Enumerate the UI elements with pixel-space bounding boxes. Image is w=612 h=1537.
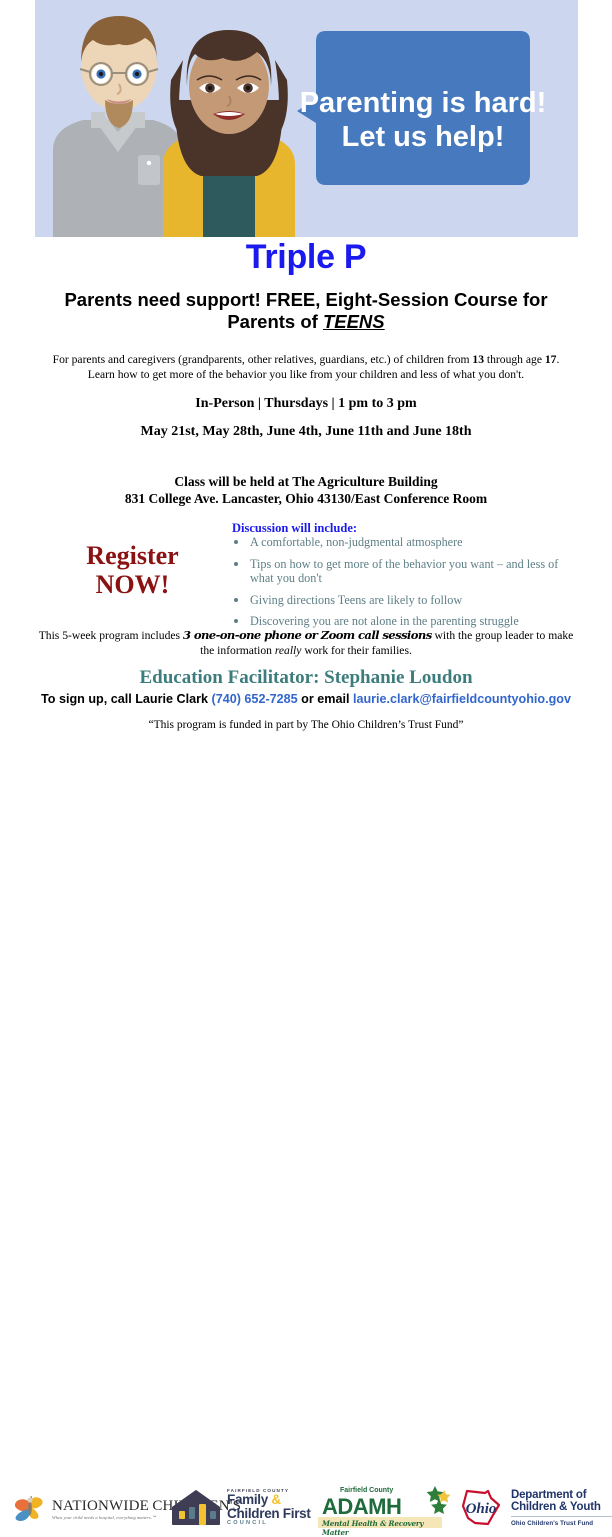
ohio-wordmark: Ohio	[466, 1501, 497, 1517]
list-item: Tips on how to get more of the behavior …	[232, 557, 580, 586]
page-title: Triple P	[0, 238, 612, 277]
list-item: A comfortable, non-judgmental atmosphere	[232, 535, 580, 550]
program-note-part-3: work for their families.	[301, 644, 411, 657]
speech-bubble: Parenting is hard! Let us help!	[297, 31, 546, 185]
logo-ohio-dcy: Ohio Department of Children & Youth Ohio…	[455, 1488, 612, 1528]
register-line-2: NOW!	[96, 570, 170, 599]
hero-illustration: Parenting is hard! Let us help!	[35, 0, 578, 237]
phone-link[interactable]: (740) 652-7285	[212, 692, 298, 706]
logo-adamh: Fairfield County ADAMH Mental Health & R…	[318, 1487, 448, 1531]
list-item-label: A comfortable, non-judgmental atmosphere	[250, 535, 463, 549]
register-line-1: Register	[86, 541, 178, 570]
bubble-line-2: Let us help!	[342, 121, 505, 153]
subtitle: Parents need support! FREE, Eight-Sessio…	[36, 289, 576, 333]
adamh-county: Fairfield County	[340, 1487, 393, 1494]
schedule-format: In-Person | Thursdays | 1 pm to 3 pm	[0, 396, 612, 412]
funding-note: “This program is funded in part by The O…	[0, 719, 612, 731]
register-callout: Register NOW!	[40, 541, 225, 599]
ohio-dept-line-2: Children & Youth	[511, 1501, 612, 1513]
ohio-dept-line-1: Department of	[511, 1489, 612, 1501]
adamh-tagline: Mental Health & Recovery Matter	[318, 1517, 442, 1537]
signup-prefix: To sign up, call Laurie Clark	[41, 692, 212, 706]
house-icon	[170, 1487, 222, 1527]
fcfc-line-1: Family &	[227, 1493, 311, 1507]
blurb-part-2: through age	[484, 353, 545, 366]
ohio-outline-icon: Ohio	[455, 1488, 507, 1528]
adamh-wordmark: ADAMH	[322, 1496, 401, 1517]
signup-middle: or email	[298, 692, 353, 706]
list-item: Discovering you are not alone in the par…	[232, 614, 580, 629]
list-item-label: Tips on how to get more of the behavior …	[250, 557, 558, 586]
list-item-label: Giving directions Teens are likely to fo…	[250, 593, 462, 607]
adamh-tagline-band: Mental Health & Recovery Matter	[318, 1517, 442, 1528]
program-note-part-1: This 5-week program includes	[39, 629, 183, 642]
signup-line: To sign up, call Laurie Clark (740) 652-…	[0, 692, 612, 706]
location-line-2: 831 College Ave. Lancaster, Ohio 43130/E…	[125, 491, 487, 506]
stars-icon	[404, 1485, 450, 1515]
program-note: This 5-week program includes 3 one-on-on…	[38, 628, 574, 658]
discussion-list: A comfortable, non-judgmental atmosphere…	[232, 535, 580, 636]
bubble-line-1: Parenting is hard!	[300, 87, 547, 119]
program-note-italic: really	[275, 644, 302, 657]
bullet-icon	[234, 562, 238, 566]
bullet-icon	[234, 619, 238, 623]
list-item-label: Discovering you are not alone in the par…	[250, 614, 519, 628]
fcfc-line-2: Children First	[227, 1507, 311, 1521]
bullet-icon	[234, 540, 238, 544]
program-note-emphasis: 3 one-on-one phone or Zoom call sessions	[183, 628, 432, 642]
location-line-1: Class will be held at The Agriculture Bu…	[174, 474, 437, 489]
hero-svg: Parenting is hard! Let us help!	[35, 0, 578, 237]
facilitator-line: Education Facilitator: Stephanie Loudon	[0, 667, 612, 689]
ohio-trust-fund: Ohio Children's Trust Fund	[511, 1520, 612, 1527]
nationwide-word: NATIONWIDE	[52, 1498, 149, 1514]
blurb-age-to: 17	[545, 353, 557, 366]
blurb-age-from: 13	[472, 353, 484, 366]
subtitle-line-1: Parents need support! FREE, Eight-Sessio…	[64, 289, 547, 310]
blurb-part-1: For parents and caregivers (grandparents…	[53, 353, 473, 366]
subtitle-emphasis: TEENS	[323, 311, 385, 332]
subtitle-line-2-prefix: Parents of	[227, 311, 323, 332]
email-link[interactable]: laurie.clark@fairfieldcountyohio.gov	[353, 692, 571, 706]
schedule-dates: May 21st, May 28th, June 4th, June 11th …	[0, 424, 612, 440]
footer-logo-bar: NATIONWIDE CHILDREN'S When your child ne…	[0, 742, 612, 792]
fcfc-ampersand: &	[271, 1492, 280, 1507]
location-block: Class will be held at The Agriculture Bu…	[0, 473, 612, 507]
list-item: Giving directions Teens are likely to fo…	[232, 593, 580, 608]
bullet-icon	[234, 598, 238, 602]
woman-figure	[163, 30, 295, 237]
logo-family-children-first: FAIRFIELD COUNTY Family & Children First…	[170, 1487, 311, 1527]
discussion-heading: Discussion will include:	[232, 521, 357, 536]
fcfc-family: Family	[227, 1492, 268, 1507]
intro-blurb: For parents and caregivers (grandparents…	[38, 352, 574, 382]
butterfly-icon	[10, 1494, 50, 1524]
ohio-divider	[511, 1516, 612, 1517]
fcfc-council: COUNCIL	[227, 1520, 311, 1526]
